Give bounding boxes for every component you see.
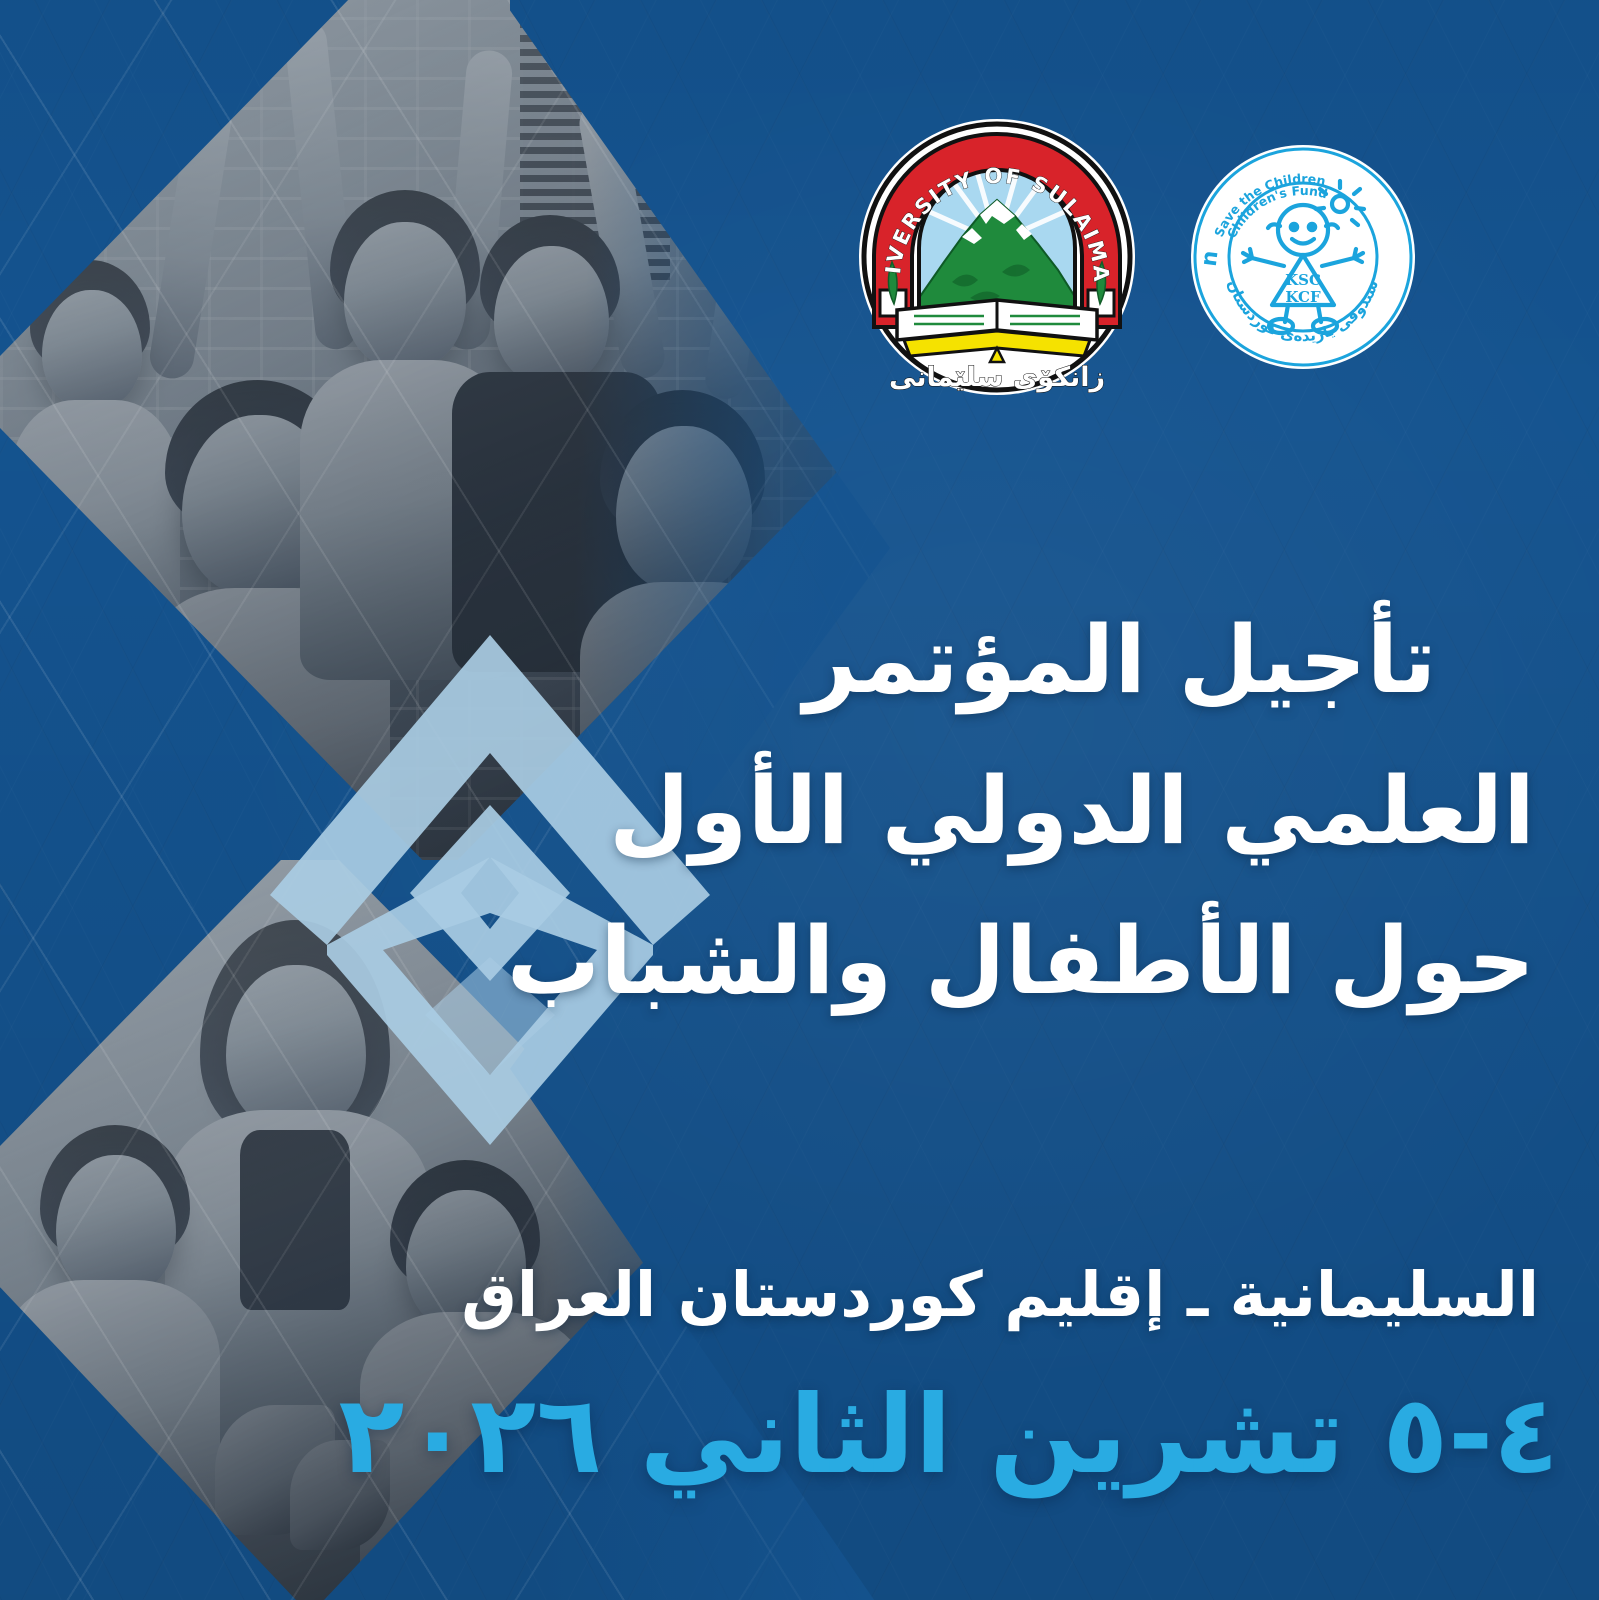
logo-row: KSC KCF Kurdistan Save the Children Chil… (852, 112, 1418, 402)
logo-university-of-sulaimani-icon: UNIVERSITY OF SULAIMANI زانکۆی سلێمانی (852, 112, 1142, 402)
venue-text: السليمانية ـ إقليم كوردستان العراق (689, 1256, 1539, 1334)
ksc-center-line2: KCF (1285, 288, 1321, 306)
page-title: تأجيل المؤتمر العلمي الدولي الأول حول ال… (705, 585, 1535, 1037)
ksc-center-line1: KSC (1285, 271, 1321, 289)
headline-line-3: حول الأطفال والشباب (705, 886, 1535, 1037)
headline-line-1: تأجيل المؤتمر (705, 585, 1535, 736)
uos-kurdish-name: زانکۆی سلێمانی (889, 362, 1105, 393)
headline-line-2: العلمي الدولي الأول (705, 736, 1535, 887)
poster-canvas: KSC KCF Kurdistan Save the Children Chil… (0, 0, 1599, 1600)
date-text: ٤-٥ تشرين الثاني ٢٠٢٦ (439, 1372, 1559, 1499)
logo-kurdistan-save-the-children-icon: KSC KCF Kurdistan Save the Children Chil… (1188, 142, 1418, 372)
open-book-icon (897, 300, 1097, 362)
